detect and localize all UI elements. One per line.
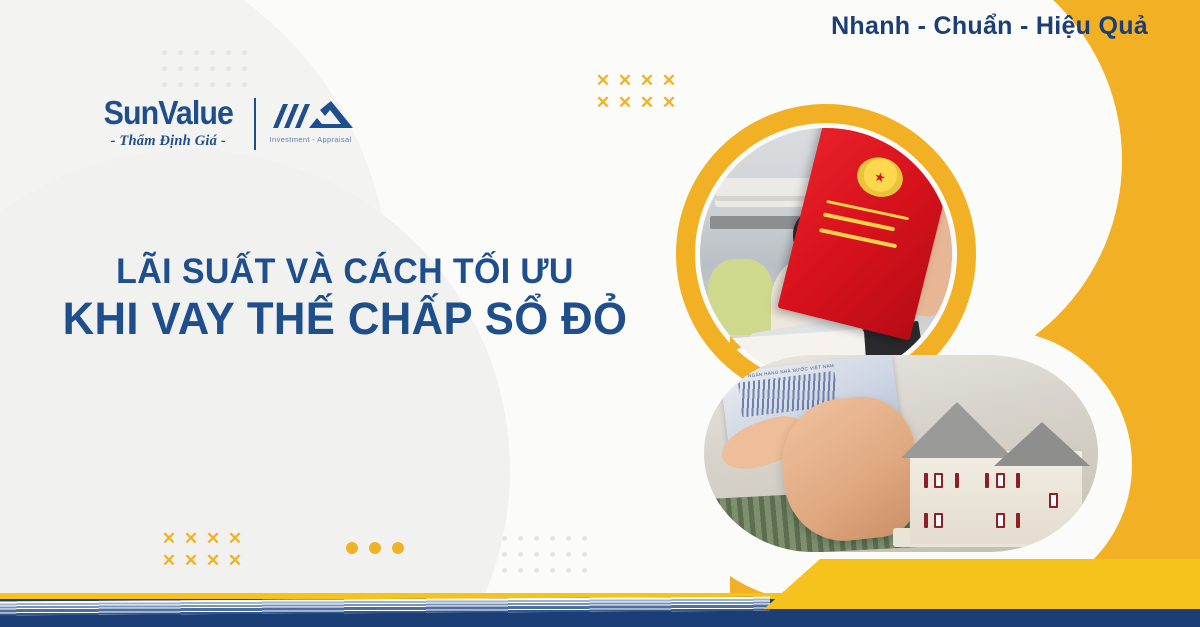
cash-and-model-house-photo: NGÂN HÀNG NHÀ NƯỚC VIỆT NAM 500000 NĂM T…: [704, 355, 1098, 552]
decor-dot: [162, 82, 167, 87]
decor-dot: [566, 552, 571, 557]
decor-dot: [226, 82, 231, 87]
decor-x: ✕: [592, 94, 614, 116]
land-use-rights-certificate-photo: [700, 128, 952, 380]
headline-block: LÃI SUẤT VÀ CÁCH TỐI ƯU KHI VAY THẾ CHẤP…: [0, 252, 690, 347]
decor-dot: [194, 82, 199, 87]
ia-triangle-mark-icon: [269, 98, 353, 132]
decor-dot: [242, 66, 247, 71]
decor-x: ✕: [158, 530, 180, 552]
decor-x: ✕: [158, 552, 180, 574]
decor-dot: [518, 568, 523, 573]
decor-dot: [178, 82, 183, 87]
decor-x: ✕: [224, 530, 246, 552]
house-shutter: [924, 513, 928, 528]
x-grid-bottom-left: ✕✕✕✕✕✕✕✕: [158, 530, 246, 574]
dot-grid-top-left: [156, 44, 252, 92]
decor-x: ✕: [202, 530, 224, 552]
decor-dot: [226, 50, 231, 55]
decor-dot: [518, 552, 523, 557]
decor-dot: [550, 536, 555, 541]
decor-dot: [210, 82, 215, 87]
background-arc-lower: [0, 150, 510, 627]
three-dots-decor: [346, 542, 404, 554]
x-grid-top: ✕✕✕✕✕✕✕✕: [592, 72, 680, 116]
dot-grid-bottom: [496, 530, 592, 578]
decor-dot: [194, 66, 199, 71]
decor-dot: [534, 552, 539, 557]
decor-dot: [534, 536, 539, 541]
decor-dot: [566, 536, 571, 541]
decor-dot: [550, 552, 555, 557]
house-shutter: [924, 473, 928, 488]
decor-dot: [502, 552, 507, 557]
decor-dot: [582, 568, 587, 573]
decor-x: ✕: [180, 530, 202, 552]
house-window: [934, 513, 943, 528]
house-shutter: [955, 473, 959, 488]
decor-dot: [210, 66, 215, 71]
banner-canvas: NGÂN HÀNG NHÀ NƯỚC VIỆT NAM 500000 NĂM T…: [0, 0, 1200, 627]
house-shutter: [985, 473, 989, 488]
decor-dot: [210, 50, 215, 55]
decor-dot: [550, 568, 555, 573]
appraisal-caption: Investment - Appraisal: [270, 135, 352, 144]
model-house: [889, 379, 1094, 544]
headline-line-2: KHI VAY THẾ CHẤP SỔ ĐỎ: [10, 292, 679, 347]
slogan-text: Nhanh - Chuẩn - Hiệu Quả: [831, 12, 1148, 41]
decor-dot: [346, 542, 358, 554]
decor-dot: [392, 542, 404, 554]
decor-x: ✕: [614, 94, 636, 116]
certificate-title-line-2: [823, 213, 896, 232]
decor-x: ✕: [658, 72, 680, 94]
decor-x: ✕: [180, 552, 202, 574]
decor-dot: [242, 82, 247, 87]
decor-x: ✕: [614, 72, 636, 94]
office-chair: [708, 259, 774, 335]
decor-dot: [534, 568, 539, 573]
brand-logo[interactable]: SunValue - Thẩm Định Giá - Investment - …: [98, 96, 353, 150]
decor-dot: [582, 536, 587, 541]
house-shutter: [1016, 473, 1020, 488]
house-window: [934, 473, 943, 488]
house-window: [1049, 493, 1058, 508]
decor-x: ✕: [658, 94, 680, 116]
house-shutter: [1016, 513, 1020, 528]
logo-divider: [254, 98, 256, 150]
appraisal-mark: Investment - Appraisal: [269, 96, 353, 144]
brand-name: SunValue: [104, 96, 233, 129]
house-window: [996, 473, 1005, 488]
brand-wordmark: SunValue - Thẩm Định Giá -: [98, 96, 239, 150]
decor-dot: [178, 50, 183, 55]
headline-line-1: LÃI SUẤT VÀ CÁCH TỐI ƯU: [10, 252, 679, 292]
decor-dot: [194, 50, 199, 55]
national-emblem-icon: [853, 152, 907, 201]
decor-dot: [582, 552, 587, 557]
decor-dot: [226, 66, 231, 71]
decor-x: ✕: [202, 552, 224, 574]
decor-dot: [242, 50, 247, 55]
decor-dot: [518, 536, 523, 541]
decor-x: ✕: [636, 72, 658, 94]
decor-dot: [502, 536, 507, 541]
money-scene: NGÂN HÀNG NHÀ NƯỚC VIỆT NAM 500000 NĂM T…: [704, 355, 1098, 552]
decor-dot: [369, 542, 381, 554]
decor-x: ✕: [224, 552, 246, 574]
house-roof-side: [994, 422, 1090, 466]
decor-dot: [162, 50, 167, 55]
decor-dot: [162, 66, 167, 71]
decor-dot: [178, 66, 183, 71]
banknote-issuer: NGÂN HÀNG NHÀ NƯỚC VIỆT NAM: [747, 363, 834, 379]
house-window: [996, 513, 1005, 528]
office-scene: [700, 128, 952, 380]
decor-dot: [566, 568, 571, 573]
decor-x: ✕: [636, 94, 658, 116]
brand-tagline: - Thẩm Định Giá -: [111, 133, 226, 150]
decor-x: ✕: [592, 72, 614, 94]
certificate-title-line-3: [819, 228, 897, 248]
decor-dot: [502, 568, 507, 573]
slogan-banner: [764, 559, 1200, 609]
